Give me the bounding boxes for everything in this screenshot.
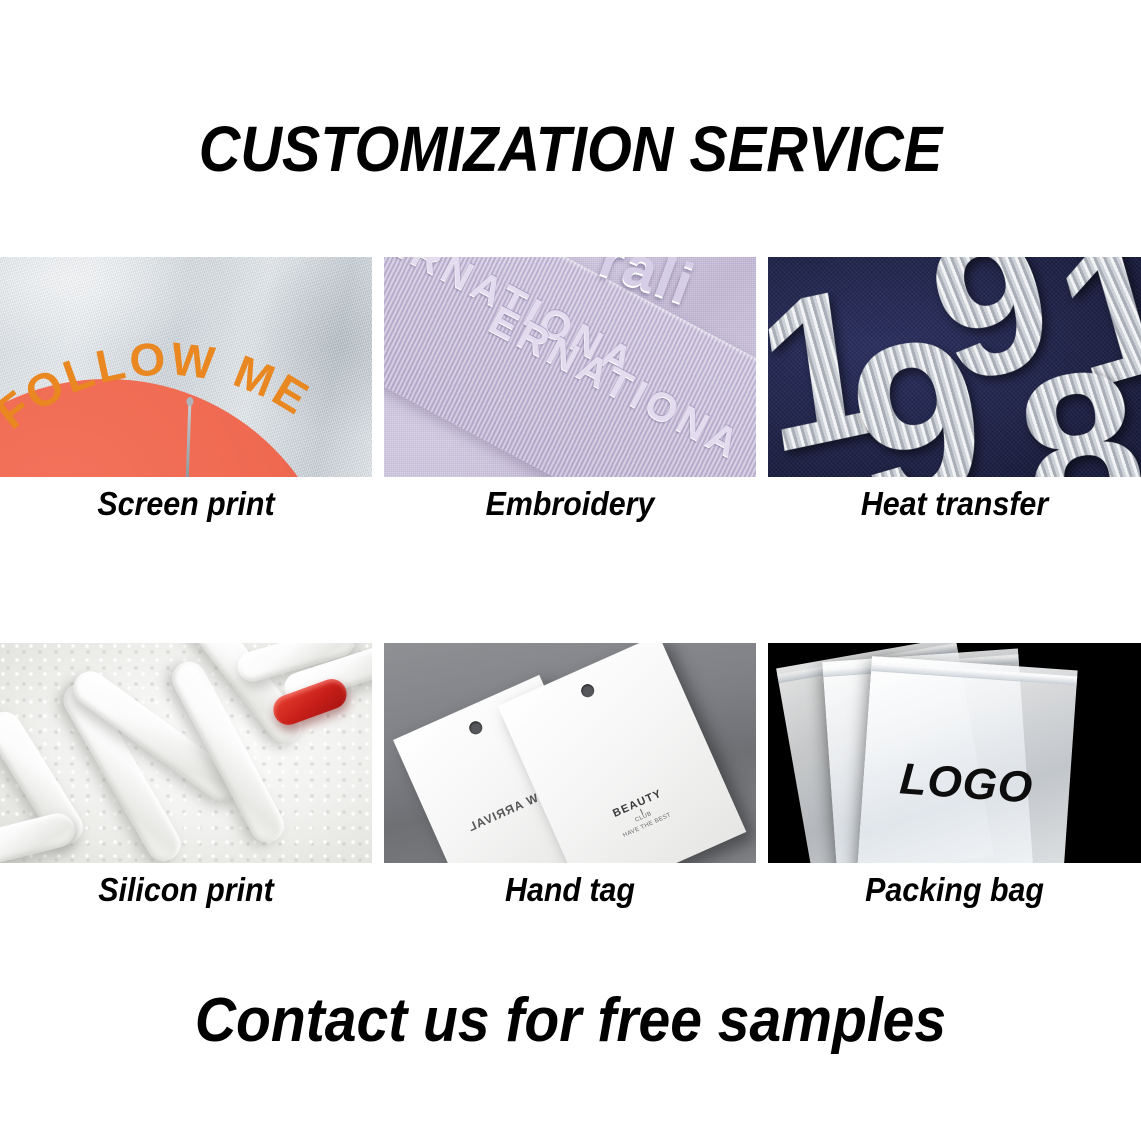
service-gallery: N'T FOLLOW ME Screen print ERNATIONA ERN… <box>0 257 1141 911</box>
gallery-label-hand-tag: Hand tag <box>399 869 741 911</box>
gallery-row: N'T FOLLOW ME Screen print ERNATIONA ERN… <box>0 257 1141 525</box>
gallery-item-heat-transfer[interactable]: 9 1 1 9 8 Heat transfer <box>768 257 1141 525</box>
packing-bag-printed-logo: LOGO <box>862 752 1071 816</box>
contact-tagline: Contact us for free samples <box>46 986 1096 1056</box>
gallery-item-silicon-print[interactable]: Silicon print <box>0 643 372 911</box>
screen-print-image[interactable]: N'T FOLLOW ME <box>0 257 372 477</box>
arc-print-text: N'T FOLLOW ME <box>0 281 372 477</box>
poly-bag-front: LOGO <box>856 656 1077 863</box>
tag-hole-icon <box>579 682 596 699</box>
screen-print-printed-text: N'T FOLLOW ME <box>0 332 320 477</box>
tag-hole-icon <box>467 719 484 736</box>
gallery-label-heat-transfer: Heat transfer <box>783 483 1126 525</box>
embroidery-image[interactable]: ERNATIONA ERNATIONA rali <box>384 257 756 477</box>
gallery-item-packing-bag[interactable]: LOGO Packing bag <box>768 643 1141 911</box>
page-title: CUSTOMIZATION SERVICE <box>57 115 1084 183</box>
gallery-label-embroidery: Embroidery <box>399 483 741 525</box>
gallery-item-embroidery[interactable]: ERNATIONA ERNATIONA rali Embroidery <box>384 257 756 525</box>
gallery-label-screen-print: Screen print <box>15 483 357 525</box>
svg-text:N'T FOLLOW ME: N'T FOLLOW ME <box>0 332 320 477</box>
heat-transfer-image[interactable]: 9 1 1 9 8 <box>768 257 1141 477</box>
hand-tag-image[interactable]: NEW ARRIVAL BEAUTY CLUB HAVE THE BEST <box>384 643 756 863</box>
gallery-item-screen-print[interactable]: N'T FOLLOW ME Screen print <box>0 257 372 525</box>
gallery-label-silicon-print: Silicon print <box>15 869 357 911</box>
zip-seal <box>871 662 1077 685</box>
hang-tag-subtext-1: CLUB <box>562 779 725 856</box>
packing-bag-image[interactable]: LOGO <box>768 643 1141 863</box>
silicon-print-image[interactable] <box>0 643 372 863</box>
gallery-row: Silicon print NEW ARRIVAL BEAUTY CLUB HA… <box>0 643 1141 911</box>
gallery-item-hand-tag[interactable]: NEW ARRIVAL BEAUTY CLUB HAVE THE BEST Ha… <box>384 643 756 911</box>
gallery-label-packing-bag: Packing bag <box>783 869 1126 911</box>
heat-transfer-char-4: 8 <box>1004 332 1141 477</box>
